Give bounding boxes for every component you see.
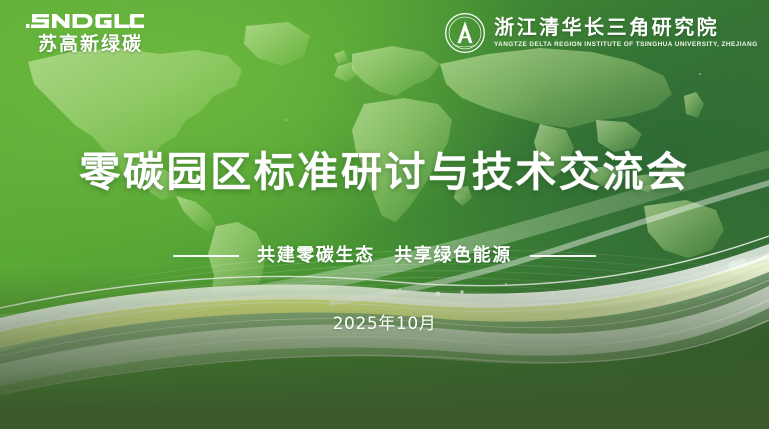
subtitle-rule-left <box>173 255 239 257</box>
logo-sndglc: 苏高新绿碳 <box>26 9 186 63</box>
subtitle-rule-right <box>530 255 596 257</box>
presentation-title-slide: 苏高新绿碳 浙江清华长三角研究院 YANGTZE DELTA REGION IN… <box>0 0 769 429</box>
slide-subtitle-row: 共建零碳生态 共享绿色能源 <box>0 243 769 269</box>
sndglc-chinese-name: 苏高新绿碳 <box>38 33 186 55</box>
logo-tsinghua-yrd: 浙江清华长三角研究院 YANGTZE DELTA REGION INSTITUT… <box>444 12 755 54</box>
tsinghua-yrd-english: YANGTZE DELTA REGION INSTITUTE OF TSINGH… <box>494 40 758 50</box>
sndglc-wordmark-icon <box>26 9 144 31</box>
slide-subtitle: 共建零碳生态 共享绿色能源 <box>257 244 512 268</box>
tsinghua-yrd-chinese: 浙江清华长三角研究院 <box>494 16 755 39</box>
tsinghua-yrd-emblem-icon <box>444 12 486 54</box>
bottom-shadow-overlay <box>0 0 769 429</box>
tsinghua-yrd-text: 浙江清华长三角研究院 YANGTZE DELTA REGION INSTITUT… <box>494 16 755 50</box>
slide-title: 零碳园区标准研讨与技术交流会 <box>0 148 769 196</box>
slide-date: 2025年10月 <box>0 313 769 335</box>
